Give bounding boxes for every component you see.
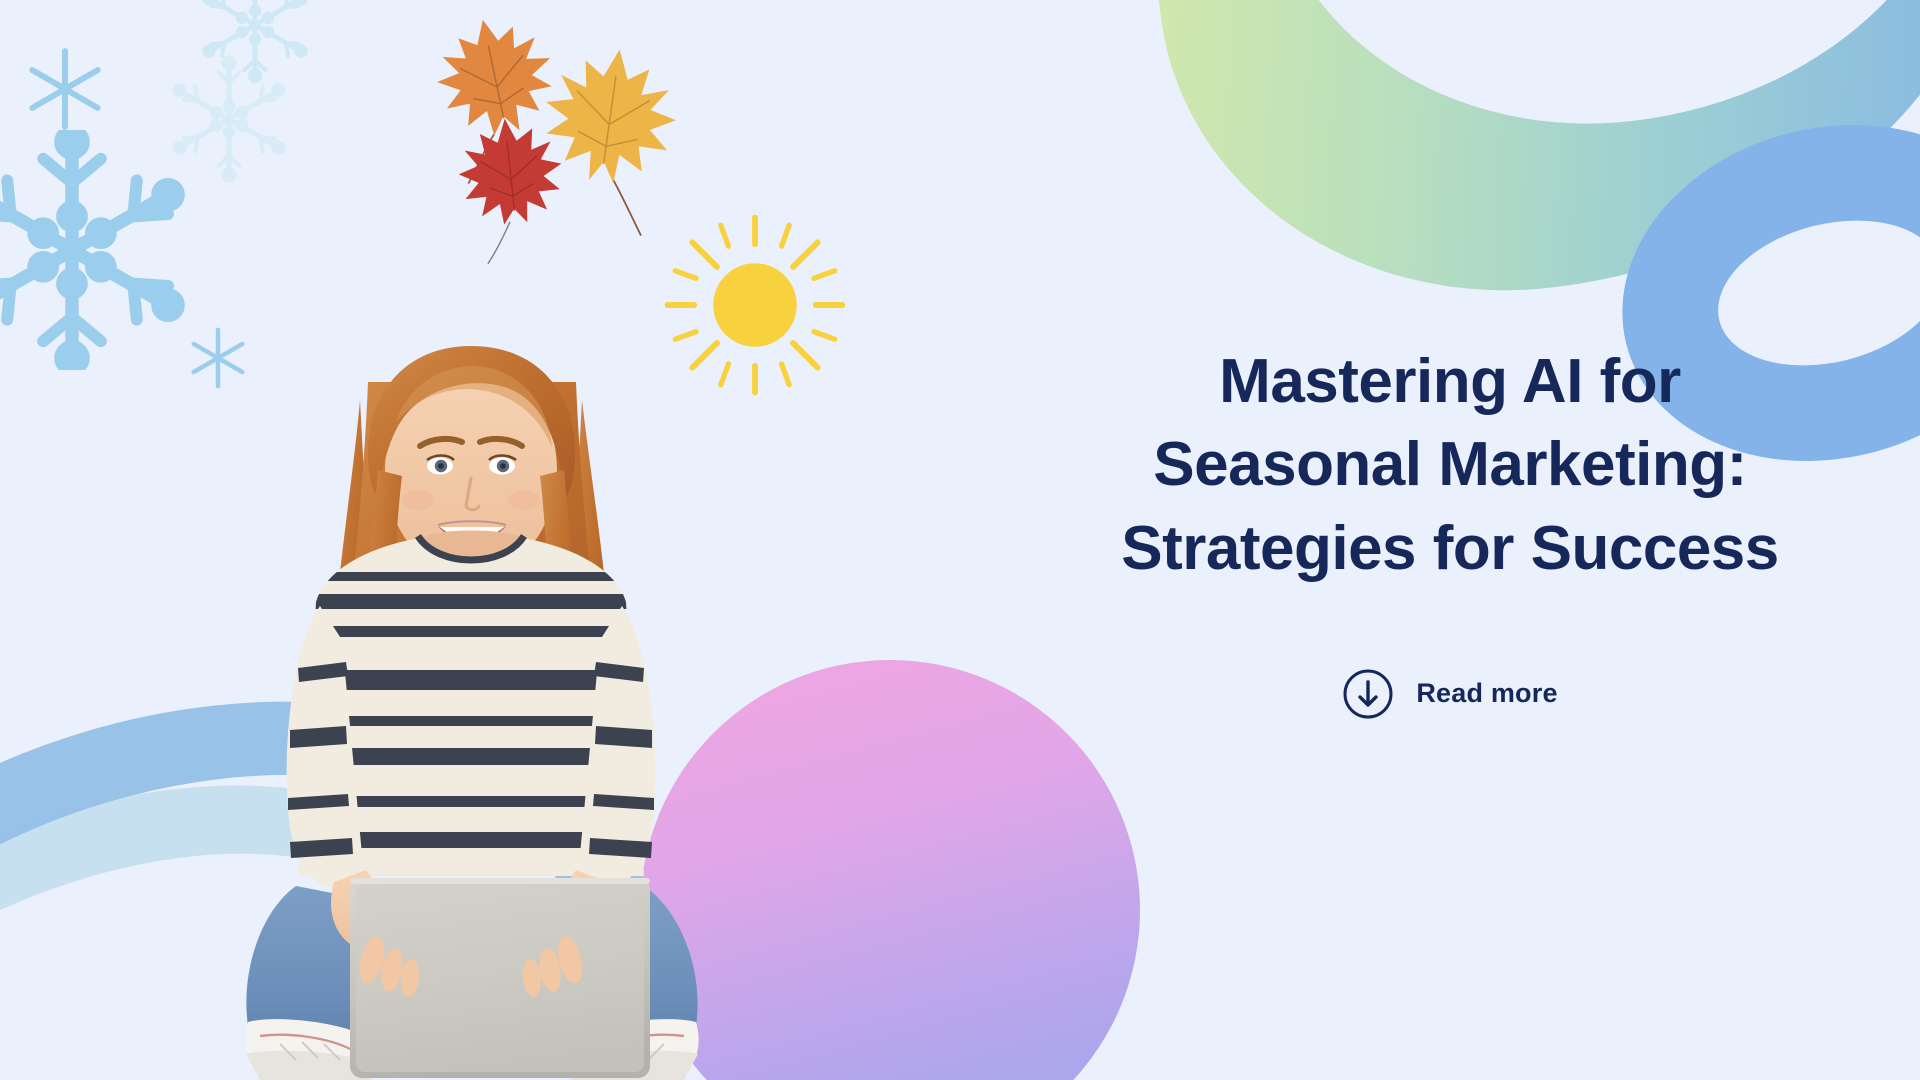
headline-line-3: Strategies for Success xyxy=(1121,507,1779,590)
read-more-label: Read more xyxy=(1416,678,1557,709)
arrow-down-circle-icon xyxy=(1342,668,1394,720)
maple-leaf-orange-icon xyxy=(428,8,560,195)
snowflake-detailed-faint-right-icon xyxy=(164,54,294,184)
woman-with-laptop-photo xyxy=(120,170,820,1080)
snowflake-detailed-faint-top-icon xyxy=(196,0,314,84)
hero-banner: Mastering AI for Seasonal Marketing: Str… xyxy=(0,0,1920,1080)
read-more-button[interactable]: Read more xyxy=(1342,668,1557,720)
hero-content: Mastering AI for Seasonal Marketing: Str… xyxy=(980,0,1920,1080)
page-title: Mastering AI for Seasonal Marketing: Str… xyxy=(1121,340,1779,589)
headline-line-2: Seasonal Marketing: xyxy=(1121,423,1779,506)
headline-line-1: Mastering AI for xyxy=(1121,340,1779,423)
snowflake-simple-medium-icon xyxy=(22,46,108,132)
